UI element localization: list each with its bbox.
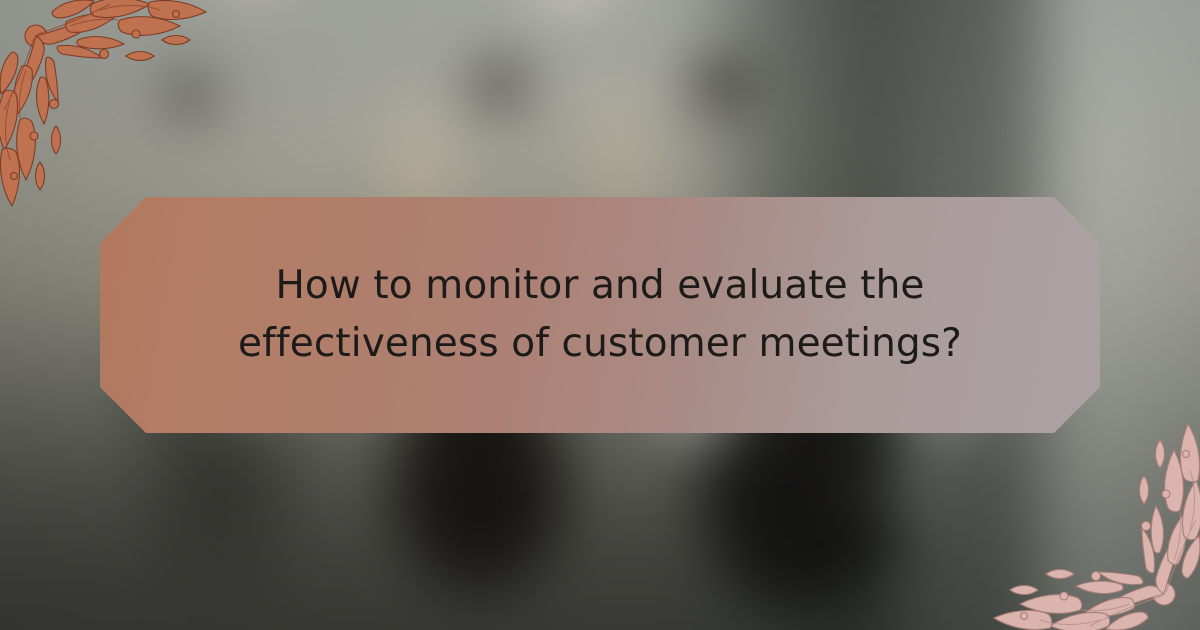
share-card-canvas: How to monitor and evaluate the effectiv… (0, 0, 1200, 630)
title-banner: How to monitor and evaluate the effectiv… (100, 197, 1100, 433)
page-title: How to monitor and evaluate the effectiv… (100, 257, 1100, 373)
